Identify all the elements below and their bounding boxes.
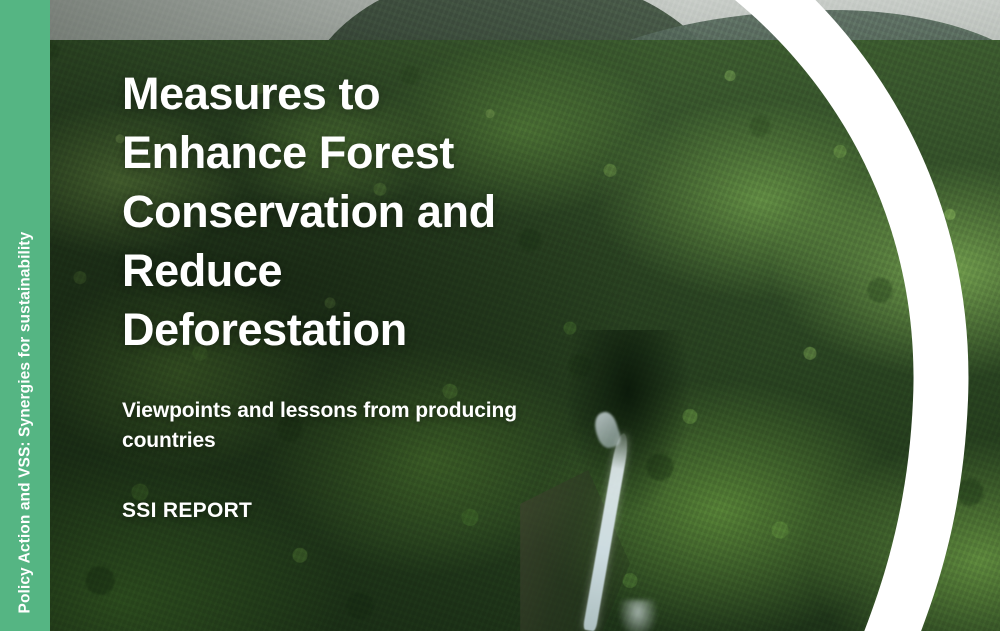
spine-series-label: Policy Action and VSS: Synergies for sus… <box>18 0 34 613</box>
cover-spine: Policy Action and VSS: Synergies for sus… <box>0 0 50 631</box>
page-subtitle: Viewpoints and lessons from producing co… <box>122 396 522 456</box>
report-type-label: SSI REPORT <box>122 499 252 523</box>
report-cover: Policy Action and VSS: Synergies for sus… <box>0 0 1000 631</box>
cover-text-block: Measures to Enhance Forest Conservation … <box>122 0 682 631</box>
page-title: Measures to Enhance Forest Conservation … <box>122 64 542 359</box>
